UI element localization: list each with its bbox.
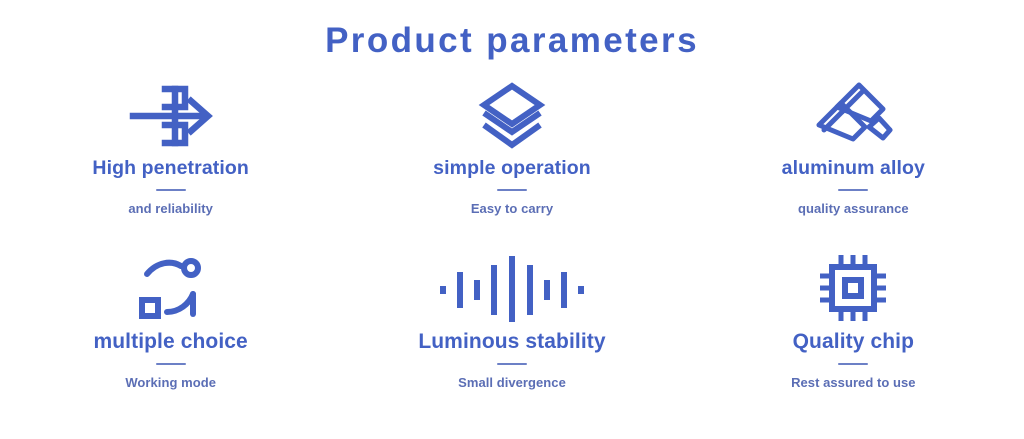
feature-divider (156, 189, 186, 191)
page-title: Product parameters (0, 19, 1024, 63)
feature-card-high-penetration: High penetration and reliability (0, 80, 341, 250)
feature-title: Quality chip (793, 330, 914, 354)
swap-choice-icon (133, 250, 209, 326)
waveform-bars-icon (438, 250, 586, 326)
feature-title: simple operation (433, 156, 591, 180)
feature-divider (497, 363, 527, 365)
cpu-chip-icon (817, 250, 889, 326)
feature-card-luminous-stability: Luminous stability Small divergence (341, 250, 682, 420)
feature-title: aluminum alloy (782, 156, 925, 180)
feature-subtitle: Easy to carry (471, 200, 553, 217)
metal-ingots-icon (811, 80, 895, 152)
feature-card-multiple-choice: multiple choice Working mode (0, 250, 341, 420)
feature-subtitle: Rest assured to use (791, 374, 916, 391)
feature-title: Luminous stability (418, 330, 605, 354)
feature-subtitle: quality assurance (798, 200, 909, 217)
feature-card-simple-operation: simple operation Easy to carry (341, 80, 682, 250)
feature-subtitle: Small divergence (458, 374, 566, 391)
layers-stack-icon (474, 80, 550, 152)
feature-divider (156, 363, 186, 365)
feature-card-aluminum-alloy: aluminum alloy quality assurance (683, 80, 1024, 250)
feature-subtitle: and reliability (128, 200, 213, 217)
feature-divider (838, 363, 868, 365)
feature-title: multiple choice (93, 330, 247, 354)
feature-divider (838, 189, 868, 191)
feature-title: High penetration (92, 156, 249, 180)
penetration-arrow-icon (129, 80, 213, 152)
feature-divider (497, 189, 527, 191)
feature-card-quality-chip: Quality chip Rest assured to use (683, 250, 1024, 420)
feature-grid: High penetration and reliability simple … (0, 80, 1024, 430)
feature-subtitle: Working mode (125, 374, 216, 391)
product-parameters-page: Product parameters High penetration and … (0, 0, 1024, 439)
